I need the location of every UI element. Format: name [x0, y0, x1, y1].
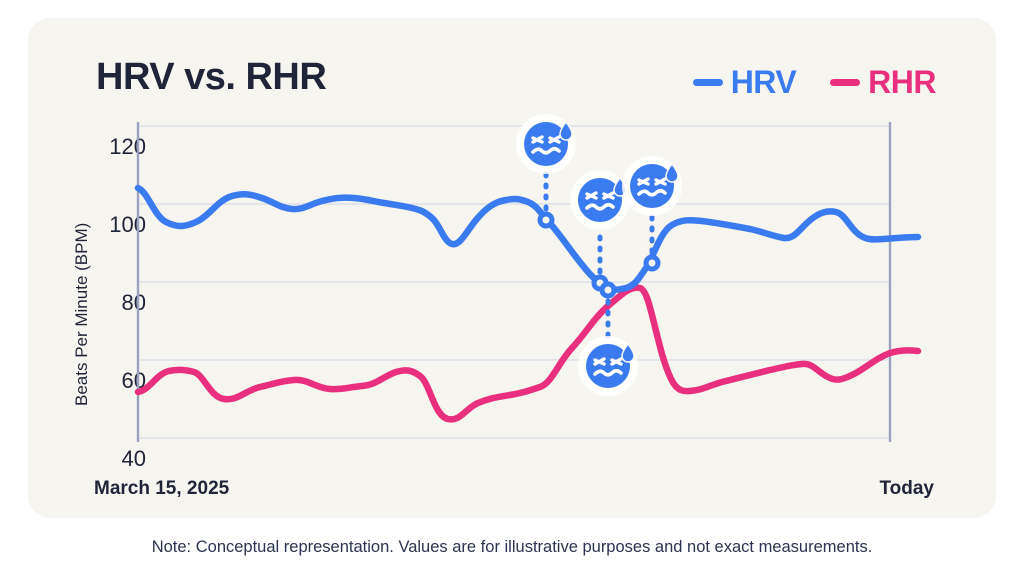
data-point-marker[interactable] [602, 284, 614, 296]
chart-card: HRV vs. RHR HRV RHR Beats Per Minute (BP… [28, 18, 996, 518]
data-point-marker[interactable] [540, 214, 552, 226]
screenshot-root: HRV vs. RHR HRV RHR Beats Per Minute (BP… [0, 0, 1024, 576]
chart-footnote: Note: Conceptual representation. Values … [0, 538, 1024, 557]
line-chart-plot [28, 18, 996, 518]
data-point-marker[interactable] [646, 257, 658, 269]
anxious-face-with-sweat-icon[interactable] [622, 156, 682, 216]
anxious-face-with-sweat-icon[interactable] [570, 170, 630, 230]
anxious-face-with-sweat-icon[interactable] [516, 114, 576, 174]
anxious-face-with-sweat-icon[interactable] [578, 336, 638, 396]
series-line-rhr [138, 288, 918, 420]
